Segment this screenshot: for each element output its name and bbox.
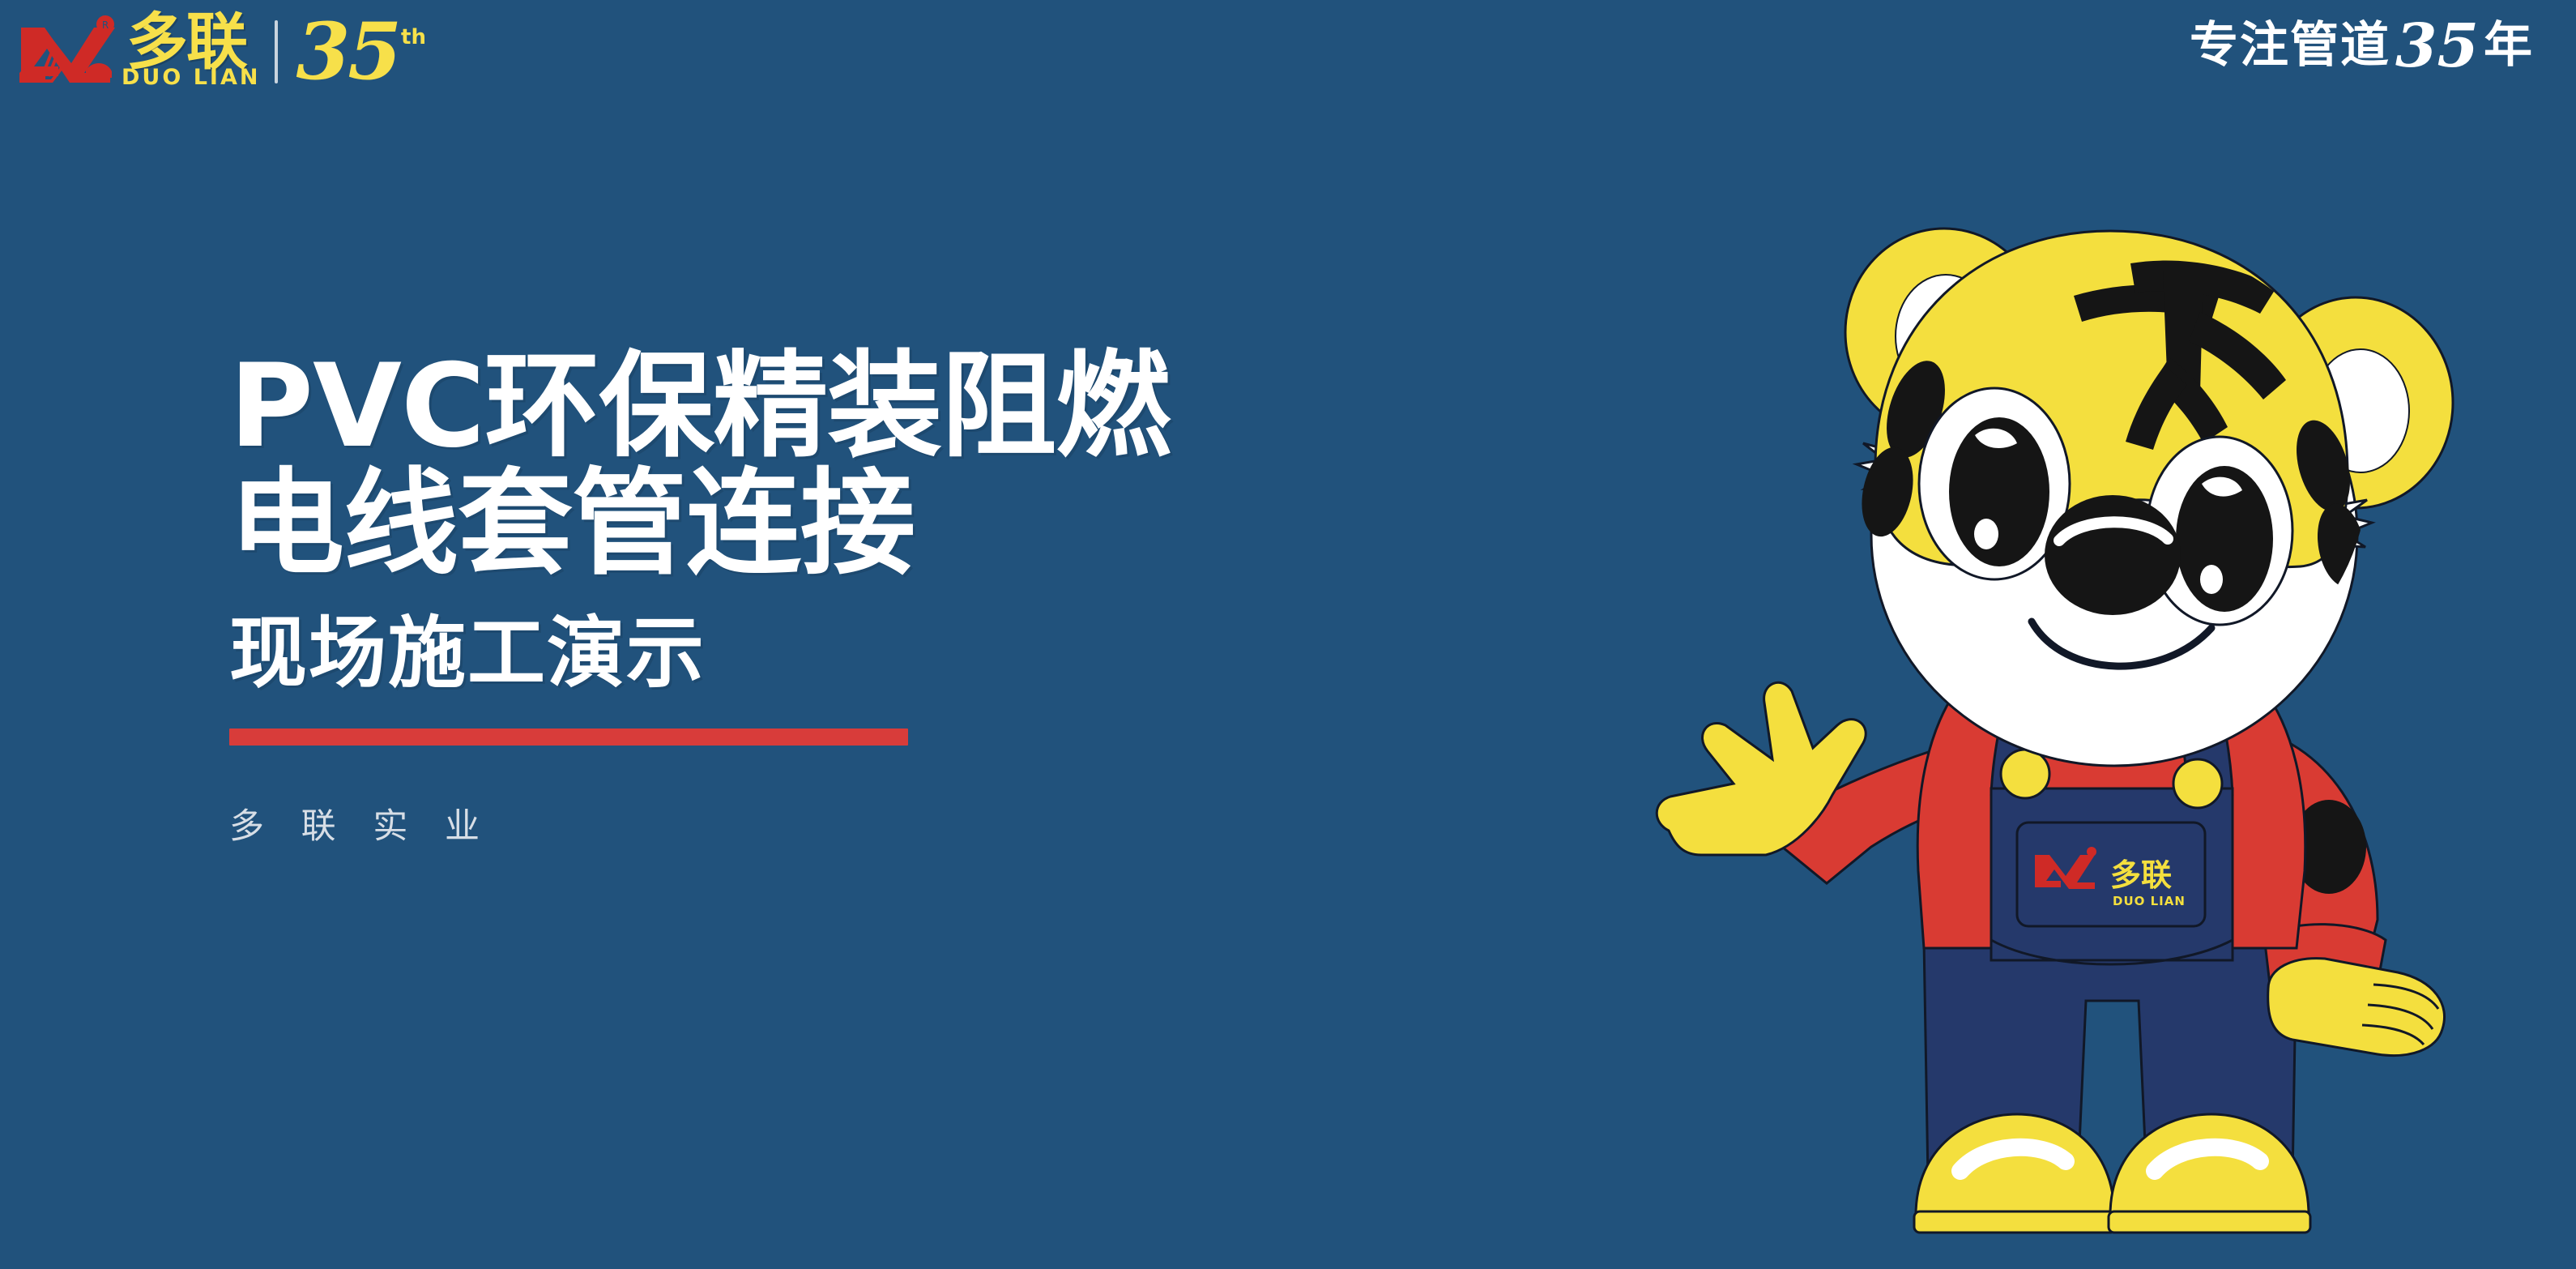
anniversary-suffix: th (401, 25, 426, 49)
brand-logo: R 多联 DUO LIAN 35 th (16, 11, 426, 92)
company-name: 多 联 实 业 (229, 798, 1623, 848)
svg-text:DUO LIAN: DUO LIAN (2113, 894, 2186, 908)
header-slogan: 专注管道 35 年 (2190, 11, 2532, 71)
brand-name-cn: 多联 (126, 14, 260, 70)
mascot-shoes (1914, 1114, 2310, 1233)
page-title-line-2: 电线套管连接 (229, 466, 1623, 583)
mascot-nose (2045, 495, 2181, 615)
mascot-right-hand (2268, 959, 2445, 1056)
svg-text:多联: 多联 (2110, 857, 2172, 893)
slogan-text: 专注管道 (2190, 21, 2390, 70)
slogan-number: 35 (2395, 16, 2479, 76)
logo-divider (275, 20, 278, 83)
page-title-line-1: PVC环保精装阻燃 (229, 348, 1623, 466)
brand-name-en: DUO LIAN (122, 65, 260, 90)
brand-text-group: 多联 DUO LIAN (122, 14, 260, 91)
title-underline-rule (229, 728, 908, 746)
duolian-x-logo-icon: R (16, 13, 122, 91)
slogan-unit: 年 (2484, 21, 2532, 70)
slide-canvas: R 多联 DUO LIAN 35 th 专注管道 35 年 PVC环保精装阻燃 … (0, 0, 2576, 1269)
svg-text:R: R (102, 19, 109, 31)
page-subtitle: 现场施工演示 (229, 611, 1623, 697)
page-title: PVC环保精装阻燃 电线套管连接 (229, 348, 1623, 583)
hero-text-block: PVC环保精装阻燃 电线套管连接 现场施工演示 多 联 实 业 (229, 348, 1623, 848)
anniversary-number: 35 (296, 19, 399, 85)
duolian-tiger-mascot: 多联 DUO LIAN (1644, 207, 2576, 1269)
anniversary-badge: 35 th (296, 19, 426, 85)
